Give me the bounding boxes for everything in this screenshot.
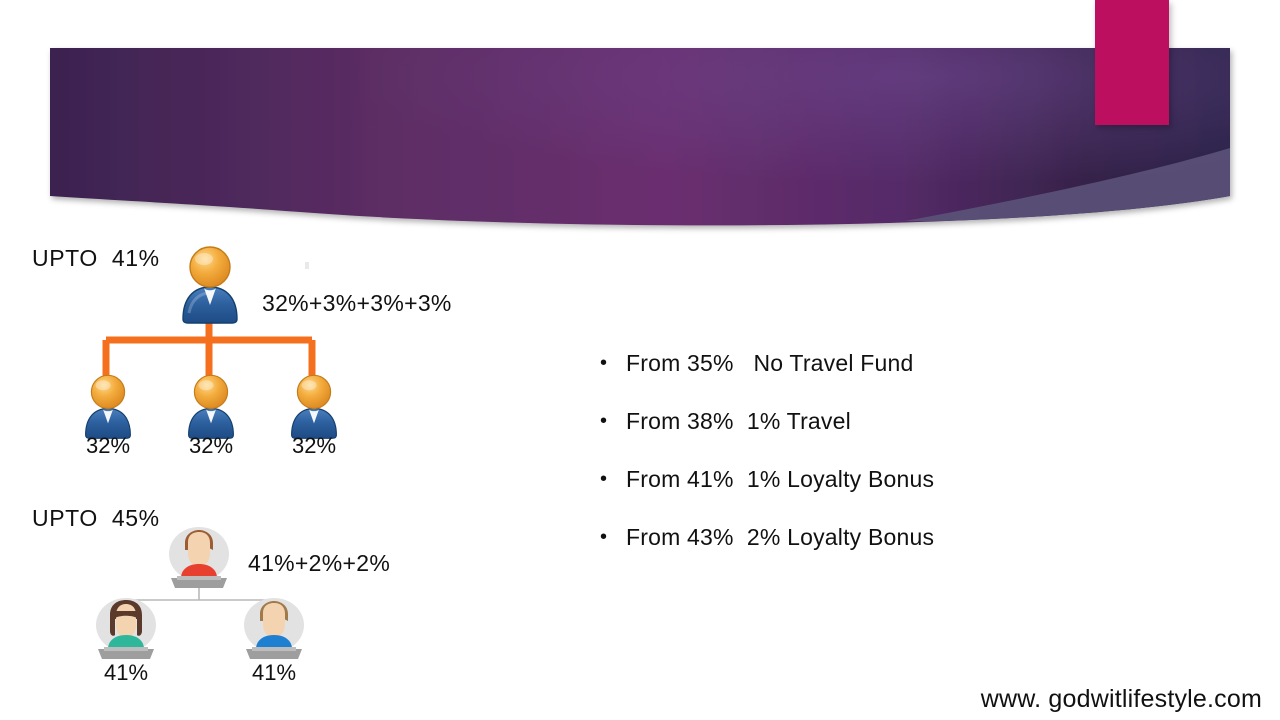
bullet-point-icon: • (600, 406, 626, 436)
person-at-desk-icon-child-boy (238, 597, 310, 659)
child-girl-label: 41% (96, 660, 156, 686)
bullet-text: From 38% 1% Travel (626, 406, 851, 436)
list-item: • From 38% 1% Travel (600, 406, 1240, 464)
footer-website-url: www. godwitlifestyle.com (981, 685, 1262, 714)
bullet-point-icon: • (600, 464, 626, 494)
accent-bar (1095, 0, 1169, 125)
person-at-desk-icon-parent (163, 526, 235, 588)
list-item: • From 41% 1% Loyalty Bonus (600, 464, 1240, 522)
upto-45-label: UPTO 45% (32, 505, 160, 532)
list-item: • From 35% No Travel Fund (600, 348, 1240, 406)
formula-41-2-2: 41%+2%+2% (248, 550, 390, 577)
bullet-text: From 35% No Travel Fund (626, 348, 914, 378)
bullet-point-icon: • (600, 522, 626, 552)
bullet-point-icon: • (600, 348, 626, 378)
bullet-text: From 43% 2% Loyalty Bonus (626, 522, 934, 552)
banner-highlight-sliver (905, 148, 1230, 221)
list-item: • From 43% 2% Loyalty Bonus (600, 522, 1240, 580)
child-boy-label: 41% (244, 660, 304, 686)
diagram-upto-45: UPTO 45% 41%+2%+2% (0, 0, 520, 720)
person-at-desk-icon-child-girl (90, 597, 162, 659)
bullet-text: From 41% 1% Loyalty Bonus (626, 464, 934, 494)
benefits-bullet-list: • From 35% No Travel Fund • From 38% 1% … (600, 348, 1240, 580)
